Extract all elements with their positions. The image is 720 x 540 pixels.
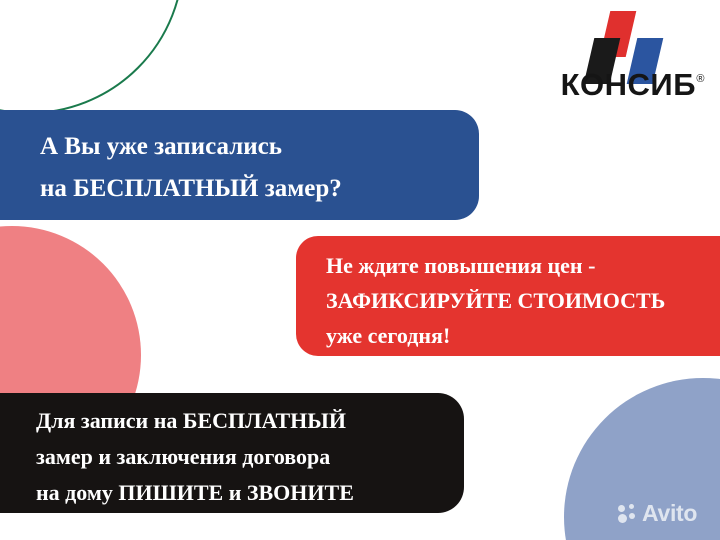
advertisement-image: КОНСИБ® А Вы уже записались на БЕСПЛАТНЫ… [0, 0, 720, 540]
green-ring-decoration [0, 0, 184, 114]
avito-watermark: Avito [618, 500, 697, 527]
banner-blue-line-2: на БЕСПЛАТНЫЙ замер? [40, 168, 479, 210]
banner-red-line-2: ЗАФИКСИРУЙТЕ СТОИМОСТЬ [326, 283, 720, 318]
banner-black-line-2: замер и заключения договора [36, 439, 464, 475]
banner-price-lock-offer: Не ждите повышения цен - ЗАФИКСИРУЙТЕ СТ… [296, 236, 720, 356]
banner-contact-call-to-action: Для записи на БЕСПЛАТНЫЙ замер и заключе… [0, 393, 464, 513]
banner-blue-line-1: А Вы уже записались [40, 126, 479, 168]
logo-wordmark-text: КОНСИБ [561, 67, 696, 102]
logo-wordmark: КОНСИБ® [532, 68, 702, 102]
banner-red-line-1: Не ждите повышения цен - [326, 248, 720, 283]
avito-watermark-label: Avito [642, 500, 697, 527]
banner-free-measurement-question: А Вы уже записались на БЕСПЛАТНЫЙ замер? [0, 110, 479, 220]
konsib-logo: КОНСИБ® [532, 8, 702, 106]
registered-trademark-icon: ® [696, 62, 705, 96]
logo-mark-group [532, 8, 702, 68]
banner-black-line-1: Для записи на БЕСПЛАТНЫЙ [36, 403, 464, 439]
avito-dots-icon [618, 504, 637, 523]
banner-red-line-3: уже сегодня! [326, 318, 720, 353]
banner-black-line-3: на дому ПИШИТЕ и ЗВОНИТЕ [36, 475, 464, 511]
